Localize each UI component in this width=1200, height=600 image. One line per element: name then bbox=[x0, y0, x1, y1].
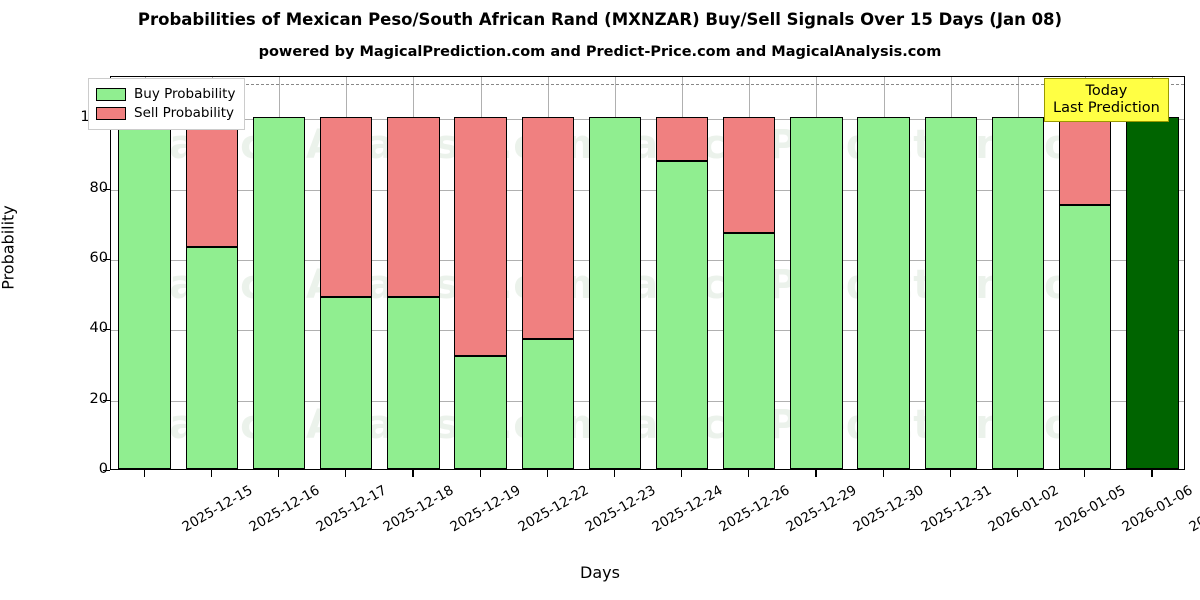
bar-segment-buy[interactable] bbox=[992, 117, 1044, 469]
x-axis-label: Days bbox=[0, 563, 1200, 582]
y-axis-tick-mark bbox=[103, 470, 110, 471]
bar-segment-today[interactable] bbox=[1126, 117, 1178, 469]
y-axis-tick-label: 0 bbox=[48, 462, 108, 477]
x-axis-tick-label: 2025-12-15 bbox=[180, 484, 255, 535]
legend-label-sell: Sell Probability bbox=[134, 107, 234, 121]
bar-group[interactable] bbox=[992, 76, 1044, 469]
bar-group[interactable] bbox=[857, 76, 909, 469]
y-axis-tick-mark bbox=[103, 329, 110, 330]
bar-segment-buy[interactable] bbox=[253, 117, 305, 469]
x-axis-tick-mark bbox=[345, 470, 346, 477]
today-annotation-line1: Today bbox=[1053, 83, 1160, 100]
today-annotation-line2: Last Prediction bbox=[1053, 100, 1160, 117]
bar-segment-buy[interactable] bbox=[118, 117, 170, 469]
bar-group[interactable] bbox=[186, 76, 238, 469]
bar-group[interactable] bbox=[656, 76, 708, 469]
bar-segment-sell[interactable] bbox=[522, 117, 574, 339]
x-axis-tick-mark bbox=[480, 470, 481, 477]
x-axis-tick-mark bbox=[547, 470, 548, 477]
chart-root: Probabilities of Mexican Peso/South Afri… bbox=[0, 0, 1200, 600]
bar-group[interactable] bbox=[454, 76, 506, 469]
y-axis-label: Probability bbox=[0, 98, 18, 398]
x-axis-tick-mark bbox=[211, 470, 212, 477]
legend-swatch-buy bbox=[96, 88, 126, 101]
x-axis-tick-label: 2025-12-29 bbox=[785, 484, 860, 535]
bar-segment-buy[interactable] bbox=[925, 117, 977, 469]
bar-segment-buy[interactable] bbox=[454, 356, 506, 469]
chart-subtitle: powered by MagicalPrediction.com and Pre… bbox=[0, 45, 1200, 60]
x-axis-tick-mark bbox=[278, 470, 279, 477]
y-axis-tick-mark bbox=[103, 189, 110, 190]
x-axis-tick-label: 2025-12-26 bbox=[718, 484, 793, 535]
x-axis-tick-mark bbox=[883, 470, 884, 477]
bar-segment-sell[interactable] bbox=[320, 117, 372, 296]
bar-segment-buy[interactable] bbox=[656, 161, 708, 469]
x-axis-tick-mark bbox=[412, 470, 413, 477]
x-axis-tick-label: 2026-01-05 bbox=[1054, 484, 1129, 535]
bar-segment-buy[interactable] bbox=[723, 233, 775, 469]
bar-segment-sell[interactable] bbox=[186, 117, 238, 247]
legend-item-sell: Sell Probability bbox=[96, 104, 235, 123]
bar-segment-sell[interactable] bbox=[656, 117, 708, 161]
today-annotation: Today Last Prediction bbox=[1044, 78, 1169, 122]
x-axis-tick-mark bbox=[1084, 470, 1085, 477]
y-axis-tick-label: 20 bbox=[48, 392, 108, 407]
y-axis-tick-label: 40 bbox=[48, 321, 108, 336]
x-axis-tick-label: 2025-12-19 bbox=[449, 484, 524, 535]
bar-segment-sell[interactable] bbox=[454, 117, 506, 356]
page-title: Probabilities of Mexican Peso/South Afri… bbox=[0, 12, 1200, 29]
bar-group[interactable] bbox=[387, 76, 439, 469]
bar-group[interactable] bbox=[925, 76, 977, 469]
x-axis-tick-mark bbox=[815, 470, 816, 477]
bar-segment-sell[interactable] bbox=[1059, 117, 1111, 205]
bar-group[interactable] bbox=[253, 76, 305, 469]
x-axis-tick-label: 2025-12-31 bbox=[919, 484, 994, 535]
bar-group[interactable] bbox=[320, 76, 372, 469]
bar-group[interactable] bbox=[790, 76, 842, 469]
legend-label-buy: Buy Probability bbox=[134, 88, 235, 102]
bar-segment-buy[interactable] bbox=[186, 247, 238, 469]
bar-segment-buy[interactable] bbox=[1059, 205, 1111, 469]
bar-group[interactable] bbox=[723, 76, 775, 469]
x-axis-tick-label: 2025-12-18 bbox=[382, 484, 457, 535]
plot-area: MagicalAnalysis.comMagicalPrediction.com… bbox=[110, 76, 1185, 470]
bar-group[interactable] bbox=[118, 76, 170, 469]
bar-segment-buy[interactable] bbox=[857, 117, 909, 469]
x-axis-tick-mark bbox=[1017, 470, 1018, 477]
bar-group[interactable] bbox=[522, 76, 574, 469]
x-axis-tick-label: 2025-12-16 bbox=[247, 484, 322, 535]
chart-legend: Buy Probability Sell Probability bbox=[88, 78, 245, 130]
x-axis-tick-mark bbox=[950, 470, 951, 477]
x-axis-tick-label: 2025-12-24 bbox=[650, 484, 725, 535]
x-axis-tick-mark bbox=[1151, 470, 1152, 477]
y-axis-tick-label: 80 bbox=[48, 181, 108, 196]
bar-segment-buy[interactable] bbox=[790, 117, 842, 469]
bar-segment-buy[interactable] bbox=[522, 339, 574, 469]
x-axis-tick-label: 2025-12-23 bbox=[583, 484, 658, 535]
x-axis-tick-label: 2026-01-02 bbox=[986, 484, 1061, 535]
bar-group[interactable] bbox=[589, 76, 641, 469]
y-axis-tick-mark bbox=[103, 400, 110, 401]
x-axis-tick-mark bbox=[748, 470, 749, 477]
bar-group[interactable] bbox=[1059, 76, 1111, 469]
bar-segment-sell[interactable] bbox=[387, 117, 439, 296]
bar-segment-buy[interactable] bbox=[387, 297, 439, 469]
bar-group[interactable] bbox=[1126, 76, 1178, 469]
x-axis-tick-label: 2026-01-06 bbox=[1121, 484, 1196, 535]
x-axis-tick-label: 2025-12-30 bbox=[852, 484, 927, 535]
x-axis-tick-mark bbox=[144, 470, 145, 477]
legend-item-buy: Buy Probability bbox=[96, 85, 235, 104]
y-axis-tick-mark bbox=[103, 259, 110, 260]
x-axis-tick-mark bbox=[614, 470, 615, 477]
bar-segment-buy[interactable] bbox=[320, 297, 372, 469]
bar-segment-buy[interactable] bbox=[589, 117, 641, 469]
x-axis-tick-mark bbox=[681, 470, 682, 477]
y-axis-tick-label: 60 bbox=[48, 251, 108, 266]
x-axis-tick-label: 2025-12-22 bbox=[516, 484, 591, 535]
x-axis-tick-label: 2025-12-17 bbox=[314, 484, 389, 535]
bar-segment-sell[interactable] bbox=[723, 117, 775, 233]
legend-swatch-sell bbox=[96, 107, 126, 120]
